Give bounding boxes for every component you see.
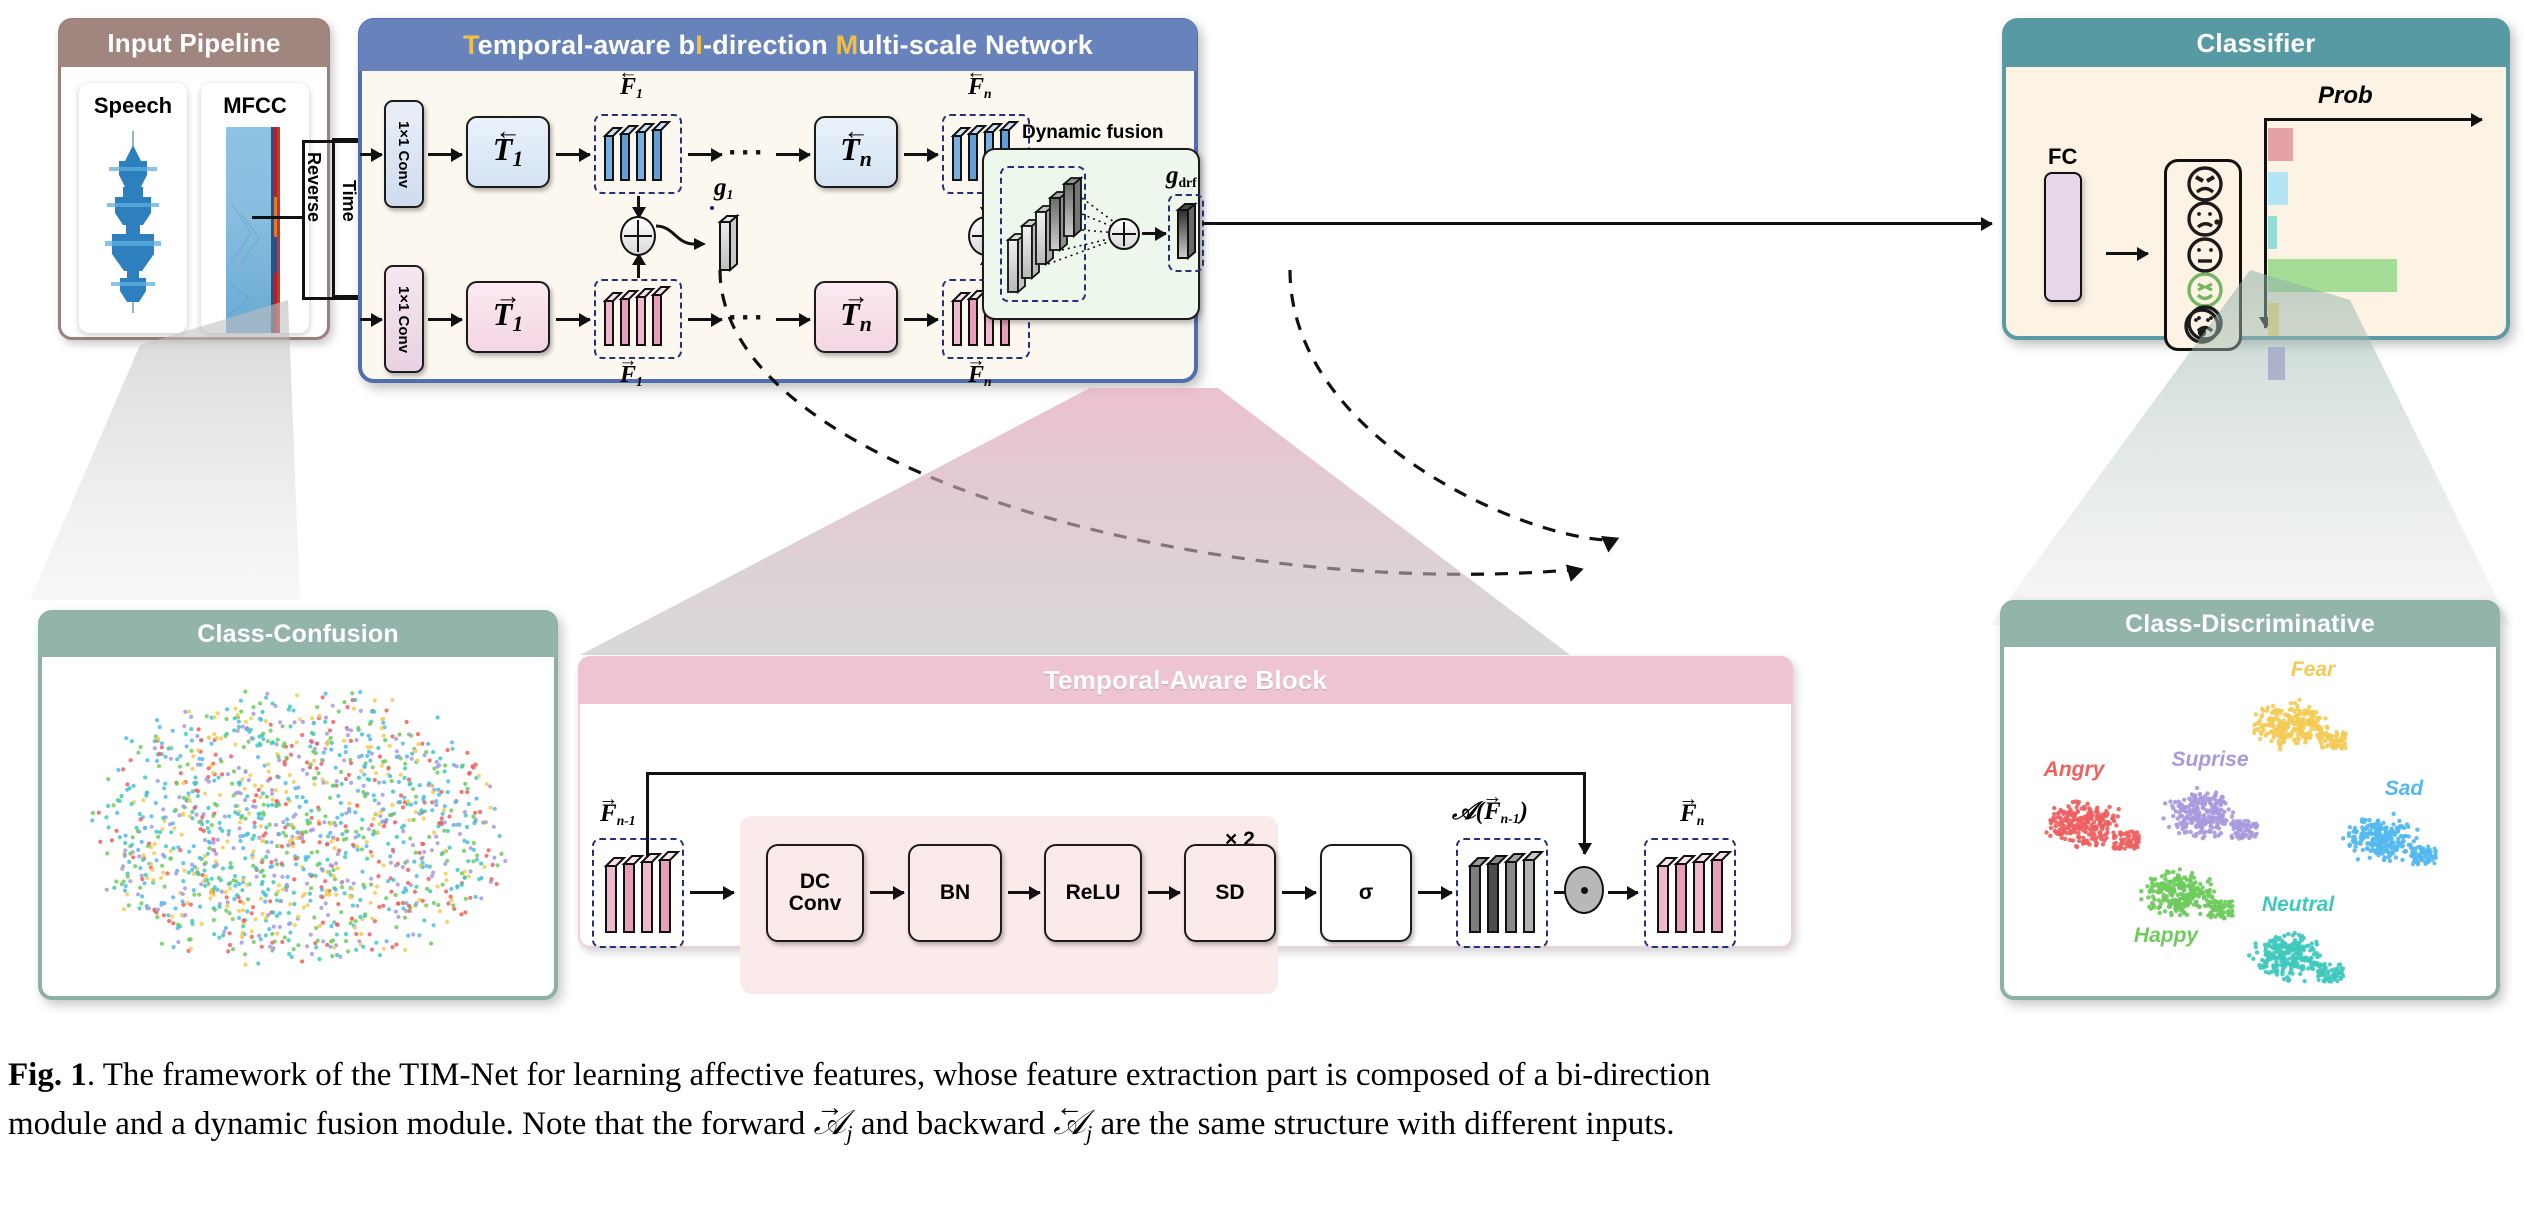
tab-input-sub: n-1 xyxy=(617,813,636,828)
svg-text:Sad: Sad xyxy=(2385,777,2425,800)
feat-fwd-1-sub: 1 xyxy=(636,374,643,389)
reverse-label: Reverse xyxy=(303,152,324,222)
class-confusion-scatter xyxy=(48,664,548,994)
forward-block-n: → Tn xyxy=(814,281,898,353)
add-to-g1-connector xyxy=(654,218,710,258)
backward-block-1-sub: 1 xyxy=(512,148,523,172)
input-pipeline-title: Input Pipeline xyxy=(59,19,329,67)
conv-1x1-forward-label: 1×1 Conv xyxy=(396,285,413,352)
g1-label: g1 xyxy=(714,174,733,203)
caption-line2a: module and a dynamic fusion module. Note… xyxy=(8,1106,814,1142)
prob-bar-angry xyxy=(2268,128,2293,161)
dynamic-fusion-label: Dynamic fusion xyxy=(1022,122,1163,144)
tab-output-sub: n xyxy=(1697,813,1705,828)
conv-1x1-backward-label: 1×1 Conv xyxy=(396,120,413,187)
add-node-1 xyxy=(620,216,656,256)
gdrf-sub: drf xyxy=(1179,175,1197,190)
class-confusion-title: Class-Confusion xyxy=(39,611,557,657)
svg-text:Happy: Happy xyxy=(2134,924,2200,947)
backward-ellipsis: ··· xyxy=(728,136,767,170)
elementwise-multiply-node xyxy=(1564,866,1604,914)
gdrf-vector xyxy=(1174,200,1200,266)
prob-bar-happy xyxy=(2268,259,2397,292)
feature-label-forward-n: → Fn xyxy=(968,362,992,390)
prob-x-axis xyxy=(2264,118,2482,121)
backward-block-n: ← Tn xyxy=(814,116,898,188)
svg-text:Fear: Fear xyxy=(2291,658,2337,681)
conv-1x1-backward: 1×1 Conv xyxy=(384,100,424,208)
gdrf-label: gdrf xyxy=(1166,162,1197,191)
prob-y-axis xyxy=(2264,118,2267,328)
tab-input-label: → Fn-1 xyxy=(600,800,636,829)
caption-line2c: are the same structure with different in… xyxy=(1092,1106,1674,1142)
time-label: Time xyxy=(338,180,359,222)
feature-label-forward-1: → F1 xyxy=(620,362,643,390)
svg-text:Angry: Angry xyxy=(2043,758,2106,781)
mfcc-card: MFCC xyxy=(201,83,309,333)
class-discriminative-title: Class-Discriminative xyxy=(2001,601,2499,647)
g1-sub: 1 xyxy=(727,187,734,202)
feat-back-1-sub: 1 xyxy=(636,86,643,101)
temporal-aware-block-panel: Temporal-Aware Block → Fn-1 × 2 DC Conv … xyxy=(578,656,1793,948)
classifier-panel: Classifier FC xyxy=(2002,18,2510,340)
class-discriminative-scatter: AngrySupriseFearSadHappyNeutral xyxy=(2008,654,2500,994)
g1-symbol: g xyxy=(714,174,727,201)
backward-block-n-sub: n xyxy=(860,148,872,172)
feature-box-backward-1 xyxy=(594,114,682,194)
op-dc-conv-line2: Conv xyxy=(789,892,842,915)
forward-block-1: → T1 xyxy=(466,281,550,353)
prob-axis-label: Prob xyxy=(2318,82,2373,110)
op-dc-conv-line1: DC xyxy=(800,870,830,893)
prob-bar-fear xyxy=(2268,303,2279,336)
gdrf-symbol: g xyxy=(1166,162,1179,189)
fusion-add-node xyxy=(1108,218,1140,250)
fc-to-emoji-arrow xyxy=(2106,252,2148,255)
speech-card: Speech xyxy=(79,83,187,333)
op-sd: SD xyxy=(1184,844,1276,942)
timnet-to-classifier-arrow xyxy=(1202,222,1992,225)
conv-1x1-forward: 1×1 Conv xyxy=(384,265,424,373)
tab-attn-slabs xyxy=(1460,844,1546,944)
feat-fwd-n-sub: n xyxy=(984,374,992,389)
op-sigma-label: σ xyxy=(1359,882,1373,904)
svg-text:Neutral: Neutral xyxy=(2262,893,2336,916)
speech-waveform xyxy=(79,83,187,333)
input-pipeline-panel: Input Pipeline Speech xyxy=(58,18,330,340)
figure-caption: Fig. 1. The framework of the TIM-Net for… xyxy=(8,1052,2516,1149)
timnet-title-text: Temporal-aware bI-direction Multi-scale … xyxy=(463,30,1093,61)
backward-block-1: ← T1 xyxy=(466,116,550,188)
feat-back-n-sub: n xyxy=(984,86,992,101)
skip-connection-h xyxy=(646,772,1586,775)
feature-box-forward-1 xyxy=(594,279,682,359)
class-discriminative-panel: Class-Discriminative AngrySupriseFearSad… xyxy=(2000,600,2500,1000)
temporal-aware-block-title: Temporal-Aware Block xyxy=(578,656,1793,704)
feature-label-backward-n: ← Fn xyxy=(968,74,992,102)
op-bn: BN xyxy=(908,844,1002,942)
caption-label: Fig. 1 xyxy=(8,1057,87,1093)
prob-bar-surprise xyxy=(2268,347,2285,380)
prob-chart: Prob xyxy=(2260,82,2506,344)
forward-block-1-sub: 1 xyxy=(512,313,523,337)
class-confusion-panel: Class-Confusion xyxy=(38,610,558,1000)
timnet-title: Temporal-aware bI-direction Multi-scale … xyxy=(359,19,1197,71)
g1-vector xyxy=(716,212,742,278)
prob-bar-neutral xyxy=(2268,216,2277,249)
emotion-face-surprise xyxy=(2166,300,2238,352)
left-arrow-accent-1: ← xyxy=(495,116,521,146)
feature-slabs-backward-1 xyxy=(597,118,681,192)
fc-bar xyxy=(2044,172,2082,302)
mfcc-spectrogram xyxy=(201,83,309,333)
timnet-panel: Temporal-aware bI-direction Multi-scale … xyxy=(358,18,1198,383)
skip-connection-v-right xyxy=(1583,772,1586,854)
tab-output-label: → Fn xyxy=(1680,800,1704,829)
tab-attn-label: 𝒜(→Fn-1) xyxy=(1452,798,1528,827)
caption-line2b: and backward xyxy=(853,1106,1054,1142)
feature-label-backward-1: ← F1 xyxy=(620,74,643,102)
op-relu-label: ReLU xyxy=(1066,882,1121,904)
op-dc-conv: DC Conv xyxy=(766,844,864,942)
tab-attn-close: ) xyxy=(1520,798,1528,825)
forward-ellipsis: ··· xyxy=(728,301,767,335)
tab-input-slabs xyxy=(596,844,682,944)
op-sigma: σ xyxy=(1320,844,1412,942)
fc-label: FC xyxy=(2048,144,2077,170)
classifier-title: Classifier xyxy=(2003,19,2509,67)
svg-text:Suprise: Suprise xyxy=(2171,748,2248,771)
op-relu: ReLU xyxy=(1044,844,1142,942)
caption-line1: . The framework of the TIM-Net for learn… xyxy=(87,1057,1711,1093)
g1-box xyxy=(710,206,714,210)
feature-slabs-forward-1 xyxy=(597,283,681,357)
op-sd-label: SD xyxy=(1215,882,1244,904)
forward-block-n-sub: n xyxy=(860,313,872,337)
op-bn-label: BN xyxy=(940,882,970,904)
tab-output-slabs xyxy=(1648,844,1734,944)
tab-attn-sub: n-1 xyxy=(1501,811,1520,826)
prob-bar-sad xyxy=(2268,172,2288,205)
